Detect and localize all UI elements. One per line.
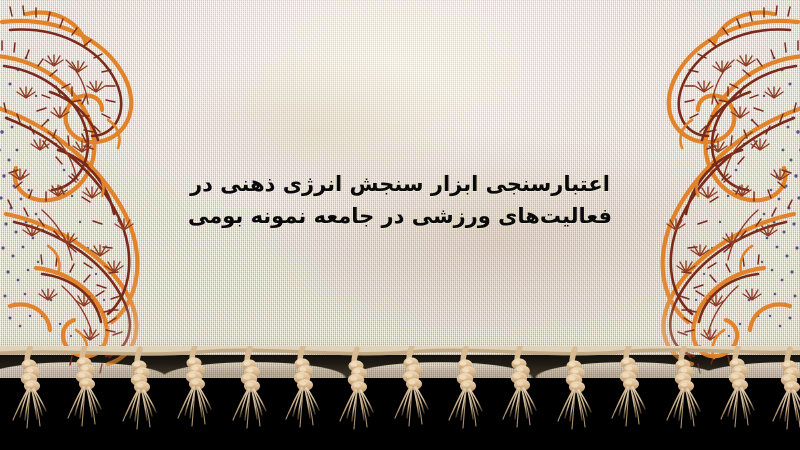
- page-title: اعتبارسنجی ابزار سنجش انرژی ذهنی در فعال…: [0, 168, 800, 232]
- title-line-1: اعتبارسنجی ابزار سنجش انرژی ذهنی در: [0, 168, 800, 200]
- title-slide: اعتبارسنجی ابزار سنجش انرژی ذهنی در فعال…: [0, 0, 800, 450]
- title-line-2: فعالیت‌های ورزشی در جامعه نمونه بومی: [0, 200, 800, 232]
